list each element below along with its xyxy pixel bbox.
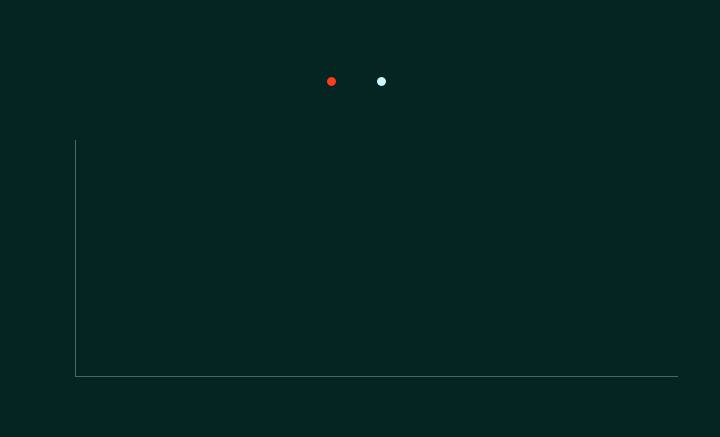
chart-container (0, 0, 720, 437)
legend-item-deepseek-v3[interactable] (377, 77, 393, 86)
plot-area (75, 140, 678, 377)
legend-swatch-icon (327, 77, 336, 86)
legend-item-command-a[interactable] (327, 77, 343, 86)
bar-series (75, 140, 678, 377)
legend-swatch-icon (377, 77, 386, 86)
chart-legend (0, 77, 720, 86)
